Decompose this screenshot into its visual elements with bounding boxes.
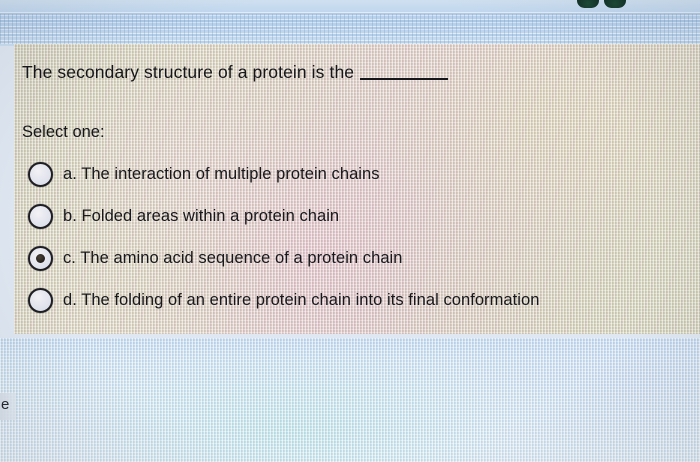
radio-button-c[interactable] (28, 246, 53, 271)
radio-button-a[interactable] (28, 162, 53, 187)
option-row-b[interactable]: b. Folded areas within a protein chain (28, 195, 688, 237)
top-band-dots (0, 14, 700, 44)
option-row-d[interactable]: d. The folding of an entire protein chai… (28, 279, 688, 321)
option-row-a[interactable]: a. The interaction of multiple protein c… (28, 153, 688, 195)
option-label-a: a. The interaction of multiple protein c… (63, 165, 380, 184)
cropped-top-shape-left (577, 0, 599, 8)
select-one-label: Select one: (22, 123, 105, 142)
page-bottom-band (0, 338, 700, 462)
screenshot-root: The secondary structure of a protein is … (0, 0, 700, 462)
radio-button-d[interactable] (28, 288, 53, 313)
cropped-top-edge-fragment (576, 0, 632, 11)
card-content: The secondary structure of a protein is … (14, 44, 700, 334)
cropped-top-shape-right (604, 0, 626, 8)
option-label-d: d. The folding of an entire protein chai… (63, 291, 539, 310)
option-label-b: b. Folded areas within a protein chain (63, 207, 339, 226)
radio-button-b[interactable] (28, 204, 53, 229)
bottom-band-tint (0, 338, 700, 462)
answer-options-list: a. The interaction of multiple protein c… (28, 153, 688, 321)
quiz-question-card: The secondary structure of a protein is … (14, 44, 700, 334)
question-text: The secondary structure of a protein is … (22, 62, 682, 83)
option-row-c[interactable]: c. The amino acid sequence of a protein … (28, 237, 688, 279)
cropped-left-edge-fragment: e (0, 393, 16, 420)
cropped-edge-glyph: e (1, 396, 9, 414)
question-blank-underline (360, 76, 448, 80)
option-label-c: c. The amino acid sequence of a protein … (63, 249, 403, 268)
question-stem: The secondary structure of a protein is … (22, 62, 354, 82)
